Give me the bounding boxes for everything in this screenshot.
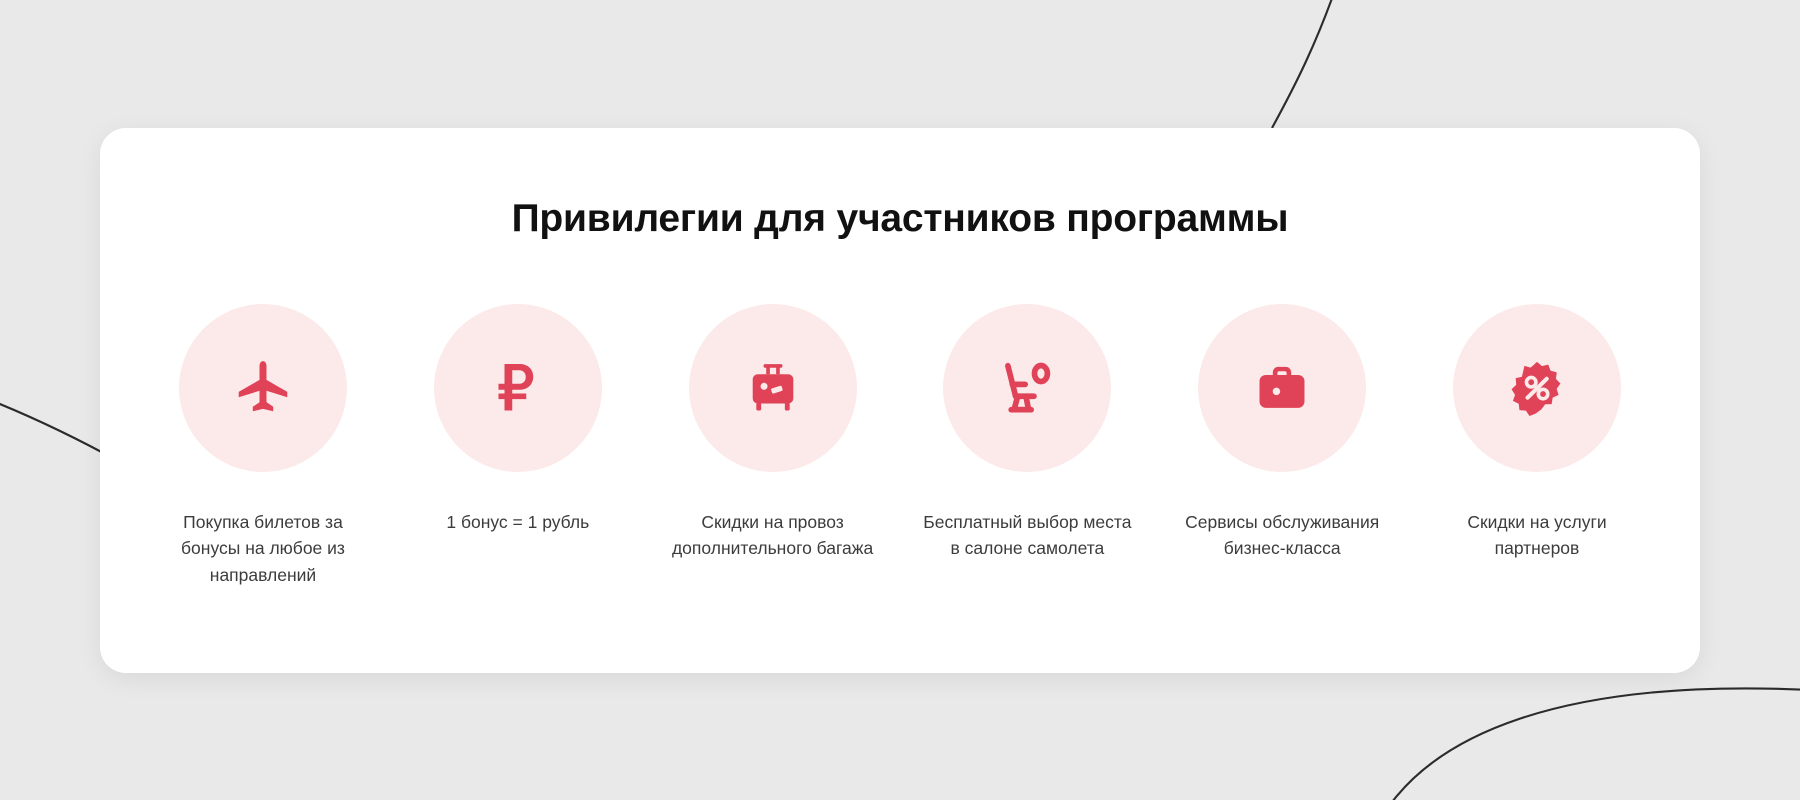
benefit-caption: Бесплатный выбор места в салоне самолета [923, 509, 1131, 562]
benefit-caption: 1 бонус = 1 рубль [446, 509, 589, 536]
benefit-caption: Покупка билетов за бонусы на любое из на… [181, 509, 345, 589]
briefcase-icon [1253, 359, 1311, 417]
airplane-icon [232, 357, 294, 419]
benefit-item-one-bonus-one-ruble[interactable]: 1 бонус = 1 рубль [393, 304, 643, 536]
decor-arc-bottom-right [1380, 688, 1800, 800]
benefit-item-tickets-for-bonuses[interactable]: Покупка билетов за бонусы на любое из на… [138, 304, 388, 589]
benefit-icon-circle [689, 304, 857, 472]
benefit-caption: Сервисы обслуживания бизнес-класса [1185, 509, 1379, 562]
benefit-item-partner-discounts[interactable]: Скидки на услуги партнеров [1412, 304, 1662, 562]
benefit-item-extra-baggage-discount[interactable]: Скидки на провоз дополнительного багажа [648, 304, 898, 562]
airplane-seat-icon [996, 357, 1058, 419]
discount-badge-icon [1508, 359, 1566, 417]
benefit-icon-circle [1198, 304, 1366, 472]
benefits-card: Привилегии для участников программы Поку… [100, 128, 1700, 673]
benefit-icon-circle [179, 304, 347, 472]
page-title: Привилегии для участников программы [100, 128, 1700, 241]
benefit-item-business-class-services[interactable]: Сервисы обслуживания бизнес-класса [1157, 304, 1407, 562]
ruble-icon [488, 358, 548, 418]
benefit-icon-circle [434, 304, 602, 472]
suitcase-icon [744, 359, 802, 417]
benefit-item-free-seat-selection[interactable]: Бесплатный выбор места в салоне самолета [902, 304, 1152, 562]
benefit-icon-circle [1453, 304, 1621, 472]
benefit-caption: Скидки на услуги партнеров [1467, 509, 1606, 562]
benefit-icon-circle [943, 304, 1111, 472]
benefit-caption: Скидки на провоз дополнительного багажа [672, 509, 873, 562]
decor-line-top-right [1272, 0, 1345, 128]
benefits-list: Покупка билетов за бонусы на любое из на… [100, 304, 1700, 589]
